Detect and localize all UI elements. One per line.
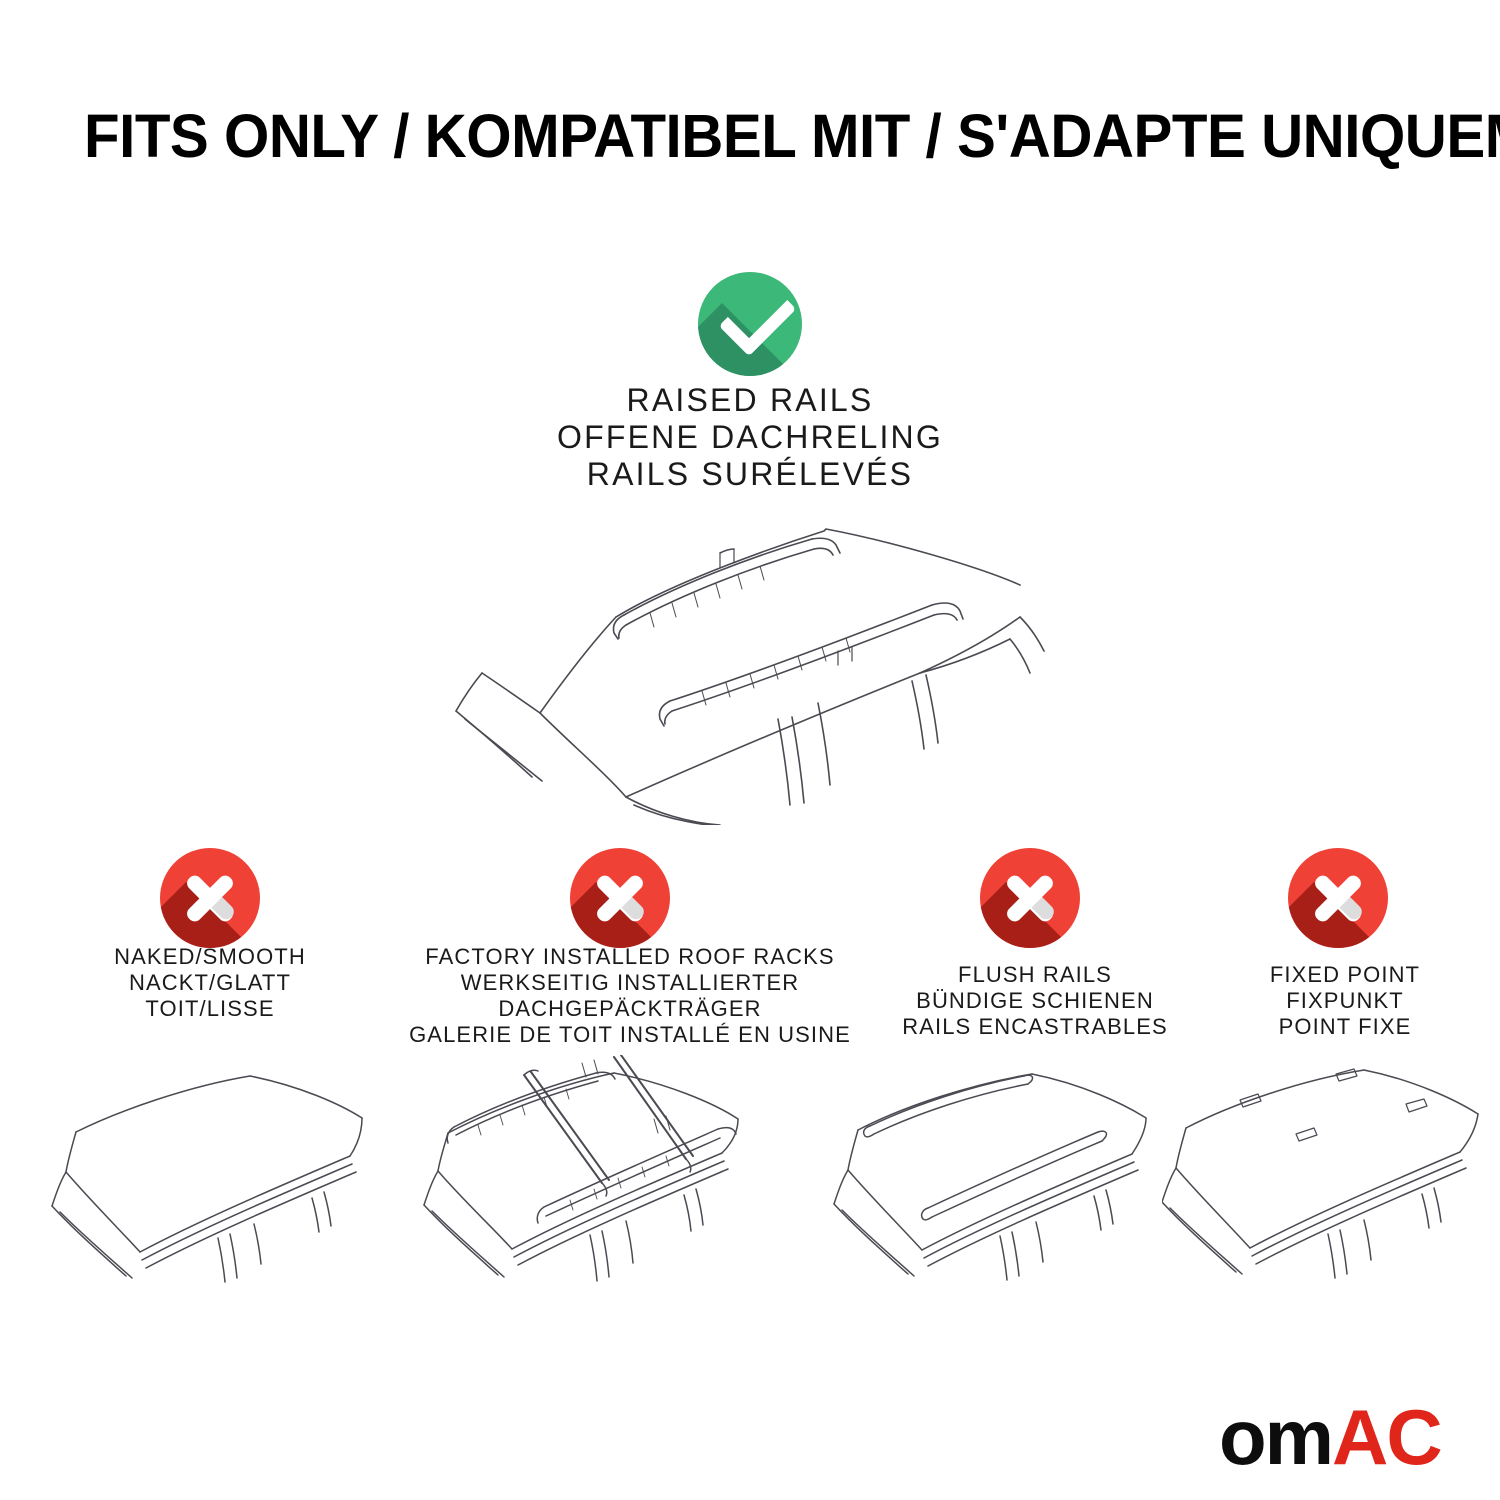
compatible-label-de: OFFENE DACHRELING [450, 419, 1050, 456]
omac-logo-accent: AC [1332, 1393, 1441, 1481]
page-title: FITS ONLY / KOMPATIBEL MIT / S'ADAPTE UN… [84, 104, 1364, 168]
caption-line: TOIT/LISSE [40, 996, 380, 1022]
check-icon [698, 272, 802, 376]
x-icon [160, 848, 260, 948]
omac-logo-dark: om [1219, 1393, 1332, 1481]
x-icon [570, 848, 670, 948]
incompatible-caption-flush-rails: FLUSH RAILS BÜNDIGE SCHIENEN RAILS ENCAS… [860, 962, 1210, 1040]
incompatible-caption-factory-roof-racks: FACTORY INSTALLED ROOF RACKS WERKSEITIG … [400, 944, 860, 1048]
caption-line: FACTORY INSTALLED ROOF RACKS [400, 944, 860, 970]
car-roof-flush-rails-illustration [832, 1060, 1177, 1285]
compatible-label-fr: RAILS SURÉLEVÉS [450, 456, 1050, 493]
caption-line: FLUSH RAILS [860, 962, 1210, 988]
caption-line: WERKSEITIG INSTALLIERTER [400, 970, 860, 996]
caption-line: BÜNDIGE SCHIENEN [860, 988, 1210, 1014]
car-roof-factory-racks-illustration [418, 1055, 768, 1290]
car-roof-fixed-point-illustration [1162, 1060, 1500, 1285]
caption-line: RAILS ENCASTRABLES [860, 1014, 1210, 1040]
caption-line: FIXPUNKT [1210, 988, 1480, 1014]
compatible-caption: RAISED RAILS OFFENE DACHRELING RAILS SUR… [450, 382, 1050, 493]
x-icon [980, 848, 1080, 948]
caption-line: GALERIE DE TOIT INSTALLÉ EN USINE [400, 1022, 860, 1048]
incompatible-caption-naked-smooth: NAKED/SMOOTH NACKT/GLATT TOIT/LISSE [40, 944, 380, 1022]
caption-line: DACHGEPÄCKTRÄGER [400, 996, 860, 1022]
caption-line: NAKED/SMOOTH [40, 944, 380, 970]
incompatible-caption-fixed-point: FIXED POINT FIXPUNKT POINT FIXE [1210, 962, 1480, 1040]
compatible-label-en: RAISED RAILS [450, 382, 1050, 419]
car-roof-naked-smooth-illustration [50, 1060, 390, 1285]
caption-line: FIXED POINT [1210, 962, 1480, 988]
x-icon [1288, 848, 1388, 948]
caption-line: POINT FIXE [1210, 1014, 1480, 1040]
caption-line: NACKT/GLATT [40, 970, 380, 996]
car-roof-raised-rails-illustration [420, 505, 1080, 825]
omac-logo: omAC [1219, 1398, 1441, 1476]
